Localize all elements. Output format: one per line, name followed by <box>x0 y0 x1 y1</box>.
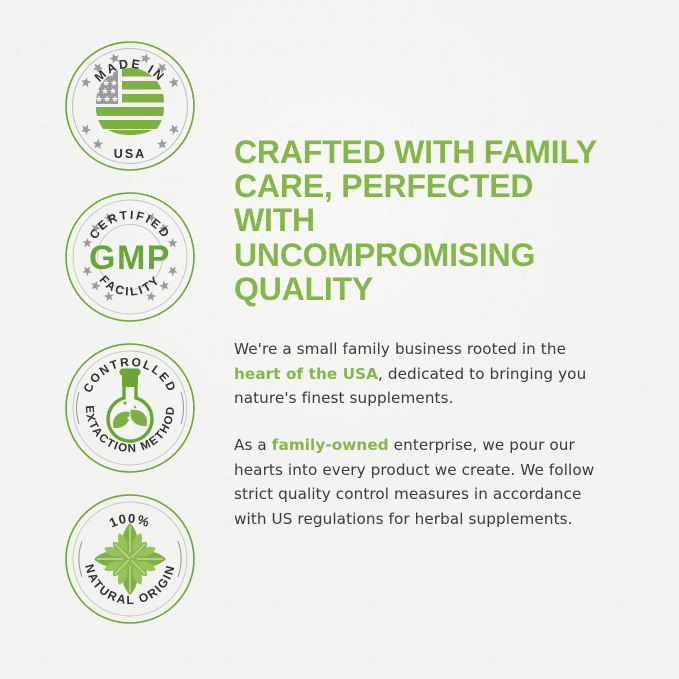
badge-made-in-usa: MADE IN USA <box>62 38 198 174</box>
flask-leaf-icon <box>108 369 152 442</box>
right-accent-arc <box>178 541 181 577</box>
paragraph-1-highlight: heart of the USA <box>234 365 378 383</box>
body-paragraph-2: As a family-owned enterprise, we pour ou… <box>234 433 604 532</box>
left-accent-arc <box>79 541 82 577</box>
paragraph-2-before: As a <box>234 436 272 454</box>
certification-badge-list: MADE IN USA <box>62 38 202 627</box>
copy-column: CRAFTED WITH FAMILY CARE, PERFECTED WITH… <box>234 135 604 532</box>
promo-banner: MADE IN USA <box>0 0 679 679</box>
paragraph-2-highlight: family-owned <box>272 436 389 454</box>
badge-natural-origin: 100% NATURAL ORIGIN <box>62 491 198 627</box>
left-accent-arc <box>77 392 79 424</box>
paragraph-1-before: We're a small family business rooted in … <box>234 340 566 358</box>
gmp-text-icon: GMP <box>89 239 171 277</box>
page-title: CRAFTED WITH FAMILY CARE, PERFECTED WITH… <box>234 135 604 306</box>
body-paragraph-1: We're a small family business rooted in … <box>234 337 604 411</box>
right-accent-arc <box>181 392 183 424</box>
badge-controlled-extaction-method: CONTROLLED EXTACTION METHOD <box>62 340 198 476</box>
badge-gmp-certified-facility: GMP CERTIFIED FACILITY <box>62 189 198 325</box>
badge-bottom-label: USA <box>114 147 146 161</box>
